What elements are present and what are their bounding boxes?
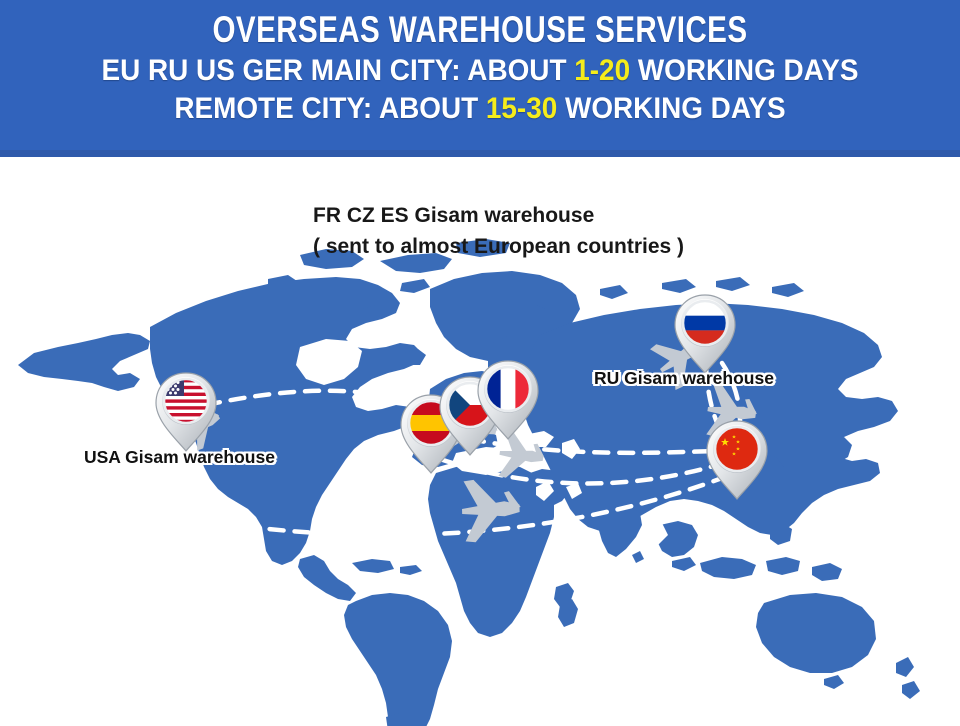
banner-line2-highlight: 1-20: [574, 54, 630, 87]
banner-line-remote-city: REMOTE CITY: ABOUT 15-30 WORKING DAYS: [34, 90, 927, 128]
overseas-warehouse-services-banner: OVERSEAS WAREHOUSE SERVICES EU RU US GER…: [0, 0, 960, 726]
banner-line2-prefix: EU RU US GER MAIN CITY: ABOUT: [101, 54, 574, 87]
banner-line3-highlight: 15-30: [486, 92, 557, 125]
banner-line-main-city: EU RU US GER MAIN CITY: ABOUT 1-20 WORKI…: [34, 52, 927, 90]
label-usa-gisam-warehouse: USA Gisam warehouse: [84, 447, 275, 468]
banner-line3-prefix: REMOTE CITY: ABOUT: [174, 92, 486, 125]
banner-title: OVERSEAS WAREHOUSE SERVICES: [96, 8, 864, 52]
eu-callout-line-2: ( sent to almost European countries ): [313, 231, 684, 262]
banner-line3-suffix: WORKING DAYS: [557, 92, 785, 125]
banner-line2-suffix: WORKING DAYS: [630, 54, 858, 87]
label-ru-gisam-warehouse: RU Gisam warehouse: [594, 368, 774, 389]
header-banner: OVERSEAS WAREHOUSE SERVICES EU RU US GER…: [0, 0, 960, 157]
eu-warehouse-callout: FR CZ ES Gisam warehouse ( sent to almos…: [313, 200, 684, 262]
world-map-area: FR CZ ES Gisam warehouse ( sent to almos…: [0, 157, 960, 726]
eu-callout-line-1: FR CZ ES Gisam warehouse: [313, 200, 684, 231]
